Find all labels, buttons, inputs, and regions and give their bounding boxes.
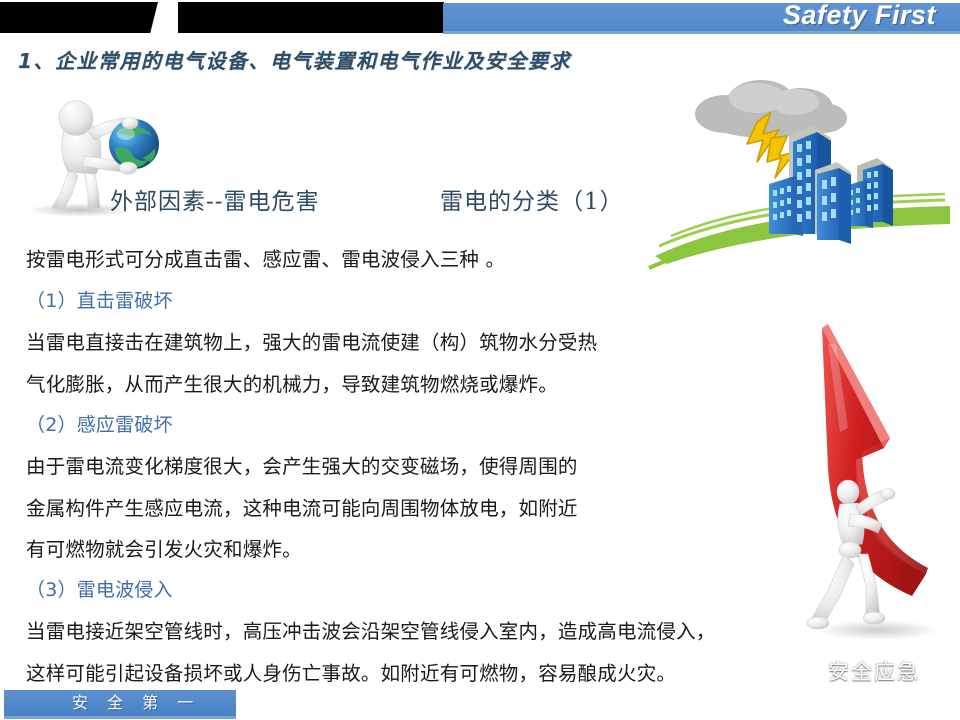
body-line-text: （1）直击雷破坏 — [26, 290, 173, 312]
body-line: 这样可能引起设备损坏或人身伤亡事故。如附近有可燃物，容易酿成火灾。 — [26, 664, 676, 685]
body-line: （2）感应雷破坏 — [26, 416, 173, 436]
body-line-text: 气化膨胀，从而产生很大的机械力，导致建筑物燃烧或爆炸。 — [26, 373, 558, 396]
wechat-icon — [786, 659, 824, 687]
body-line-text: （2）感应雷破坏 — [26, 414, 173, 436]
slide-root: Safety First 1、企业常用的电气设备、电气装置和电气作业及安全要求 — [0, 0, 960, 720]
body-line: 由于雷电流变化梯度很大，会产生强大的交变磁场，使得周围的 — [26, 457, 578, 478]
cloud-lightning-buildings-clipart — [645, 78, 960, 273]
subheading-lightning-classification: 雷电的分类（1） — [440, 182, 624, 216]
body-line-text: 当雷电接近架空管线时，高压冲击波会沿架空管线侵入室内，造成高电流侵入， — [26, 620, 716, 643]
footer-label: 安 全 第 一 — [72, 690, 200, 716]
body-line-text: 当雷电直接击在建筑物上，强大的雷电流使建（构）筑物水分受热 — [26, 331, 597, 354]
body-line-text: 这样可能引起设备损坏或人身伤亡事故。如附近有可燃物，容易酿成火灾。 — [26, 662, 676, 685]
body-line-text: （3）雷电波侵入 — [26, 579, 173, 601]
body-line: 当雷电接近架空管线时，高压冲击波会沿架空管线侵入室内，造成高电流侵入， — [26, 622, 716, 643]
header-black-block-left — [0, 2, 160, 33]
body-line-text: 有可燃物就会引发火灾和爆炸。 — [26, 538, 302, 561]
body-line-text: 按雷电形式可分成直击雷、感应雷、雷电波侵入三种 。 — [26, 248, 505, 271]
subheading-row: 外部因素--雷电危害 雷电的分类（1） — [110, 182, 730, 214]
mannequin-pushing-red-arrow-image — [770, 300, 955, 660]
watermark-label: 安全应急 — [828, 657, 920, 687]
header-black-block-right — [178, 2, 444, 33]
page-title: 1、企业常用的电气设备、电气装置和电气作业及安全要求 — [18, 45, 571, 74]
subheading-external-factor: 外部因素--雷电危害 — [110, 182, 320, 216]
body-line: 按雷电形式可分成直击雷、感应雷、雷电波侵入三种 。 — [26, 250, 505, 271]
body-line-text: 由于雷电流变化梯度很大，会产生强大的交变磁场，使得周围的 — [26, 455, 578, 478]
body-line: 金属构件产生感应电流，这种电流可能向周围物体放电，如附近 — [26, 499, 578, 520]
body-line: 当雷电直接击在建筑物上，强大的雷电流使建（构）筑物水分受热 — [26, 333, 597, 354]
body-line: 有可燃物就会引发火灾和爆炸。 — [26, 540, 302, 561]
body-line: （1）直击雷破坏 — [26, 292, 173, 312]
header-bar: Safety First — [0, 0, 960, 34]
body-line: （3）雷电波侵入 — [26, 581, 173, 601]
body-line-text: 金属构件产生感应电流，这种电流可能向周围物体放电，如附近 — [26, 497, 578, 520]
body-line: 气化膨胀，从而产生很大的机械力，导致建筑物燃烧或爆炸。 — [26, 375, 558, 396]
brand-title: Safety First — [783, 0, 936, 34]
wechat-watermark: 安全应急 — [786, 657, 956, 691]
